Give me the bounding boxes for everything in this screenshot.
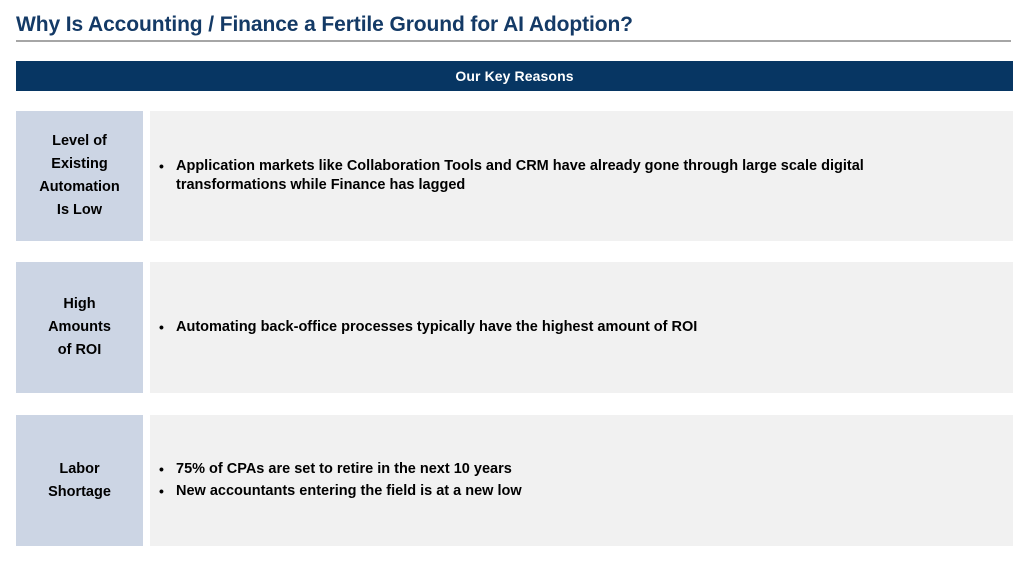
reason-label-3-line-2: Shortage — [48, 481, 111, 504]
reason-label-1-line-4: Is Low — [39, 199, 120, 222]
reason-label-2: High Amounts of ROI — [16, 262, 143, 393]
title-divider — [16, 40, 1011, 42]
page-title: Why Is Accounting / Finance a Fertile Gr… — [16, 12, 1011, 38]
list-item: • 75% of CPAs are set to retire in the n… — [150, 460, 997, 479]
bullet-dot-icon: • — [150, 460, 176, 479]
reason-row-2: High Amounts of ROI • Automating back-of… — [16, 262, 1013, 393]
bullet-text: Automating back-office processes typical… — [176, 318, 997, 337]
section-banner: Our Key Reasons — [16, 61, 1013, 91]
list-item: • Automating back-office processes typic… — [150, 318, 997, 337]
reason-row-3: Labor Shortage • 75% of CPAs are set to … — [16, 415, 1013, 546]
bullet-list-3: • 75% of CPAs are set to retire in the n… — [150, 460, 997, 501]
reason-row-1: Level of Existing Automation Is Low • Ap… — [16, 111, 1013, 241]
bullet-dot-icon: • — [150, 318, 176, 337]
list-item: • New accountants entering the field is … — [150, 482, 997, 501]
section-banner-label: Our Key Reasons — [455, 68, 573, 84]
title-block: Why Is Accounting / Finance a Fertile Gr… — [16, 12, 1011, 42]
reason-label-1-line-1: Level of — [39, 130, 120, 153]
reason-label-1-line-3: Automation — [39, 176, 120, 199]
reason-content-2: • Automating back-office processes typic… — [150, 262, 1013, 393]
reason-content-1: • Application markets like Collaboration… — [150, 111, 1013, 241]
bullet-dot-icon: • — [150, 482, 176, 501]
reason-content-3: • 75% of CPAs are set to retire in the n… — [150, 415, 1013, 546]
bullet-text: 75% of CPAs are set to retire in the nex… — [176, 460, 997, 479]
reason-label-1: Level of Existing Automation Is Low — [16, 111, 143, 241]
reason-label-2-line-2: Amounts — [48, 316, 111, 339]
slide-canvas: Why Is Accounting / Finance a Fertile Gr… — [0, 0, 1024, 575]
bullet-dot-icon: • — [150, 157, 176, 176]
row-gap-2 — [143, 262, 150, 393]
bullet-list-2: • Automating back-office processes typic… — [150, 318, 997, 337]
reason-label-3: Labor Shortage — [16, 415, 143, 546]
bullet-text: Application markets like Collaboration T… — [176, 157, 997, 195]
list-item: • Application markets like Collaboration… — [150, 157, 997, 195]
row-gap-3 — [143, 415, 150, 546]
reason-label-2-line-1: High — [48, 293, 111, 316]
bullet-text: New accountants entering the field is at… — [176, 482, 997, 501]
bullet-list-1: • Application markets like Collaboration… — [150, 157, 997, 195]
reason-label-3-line-1: Labor — [48, 458, 111, 481]
reason-label-2-line-3: of ROI — [48, 339, 111, 362]
row-gap-1 — [143, 111, 150, 241]
reason-label-1-line-2: Existing — [39, 153, 120, 176]
